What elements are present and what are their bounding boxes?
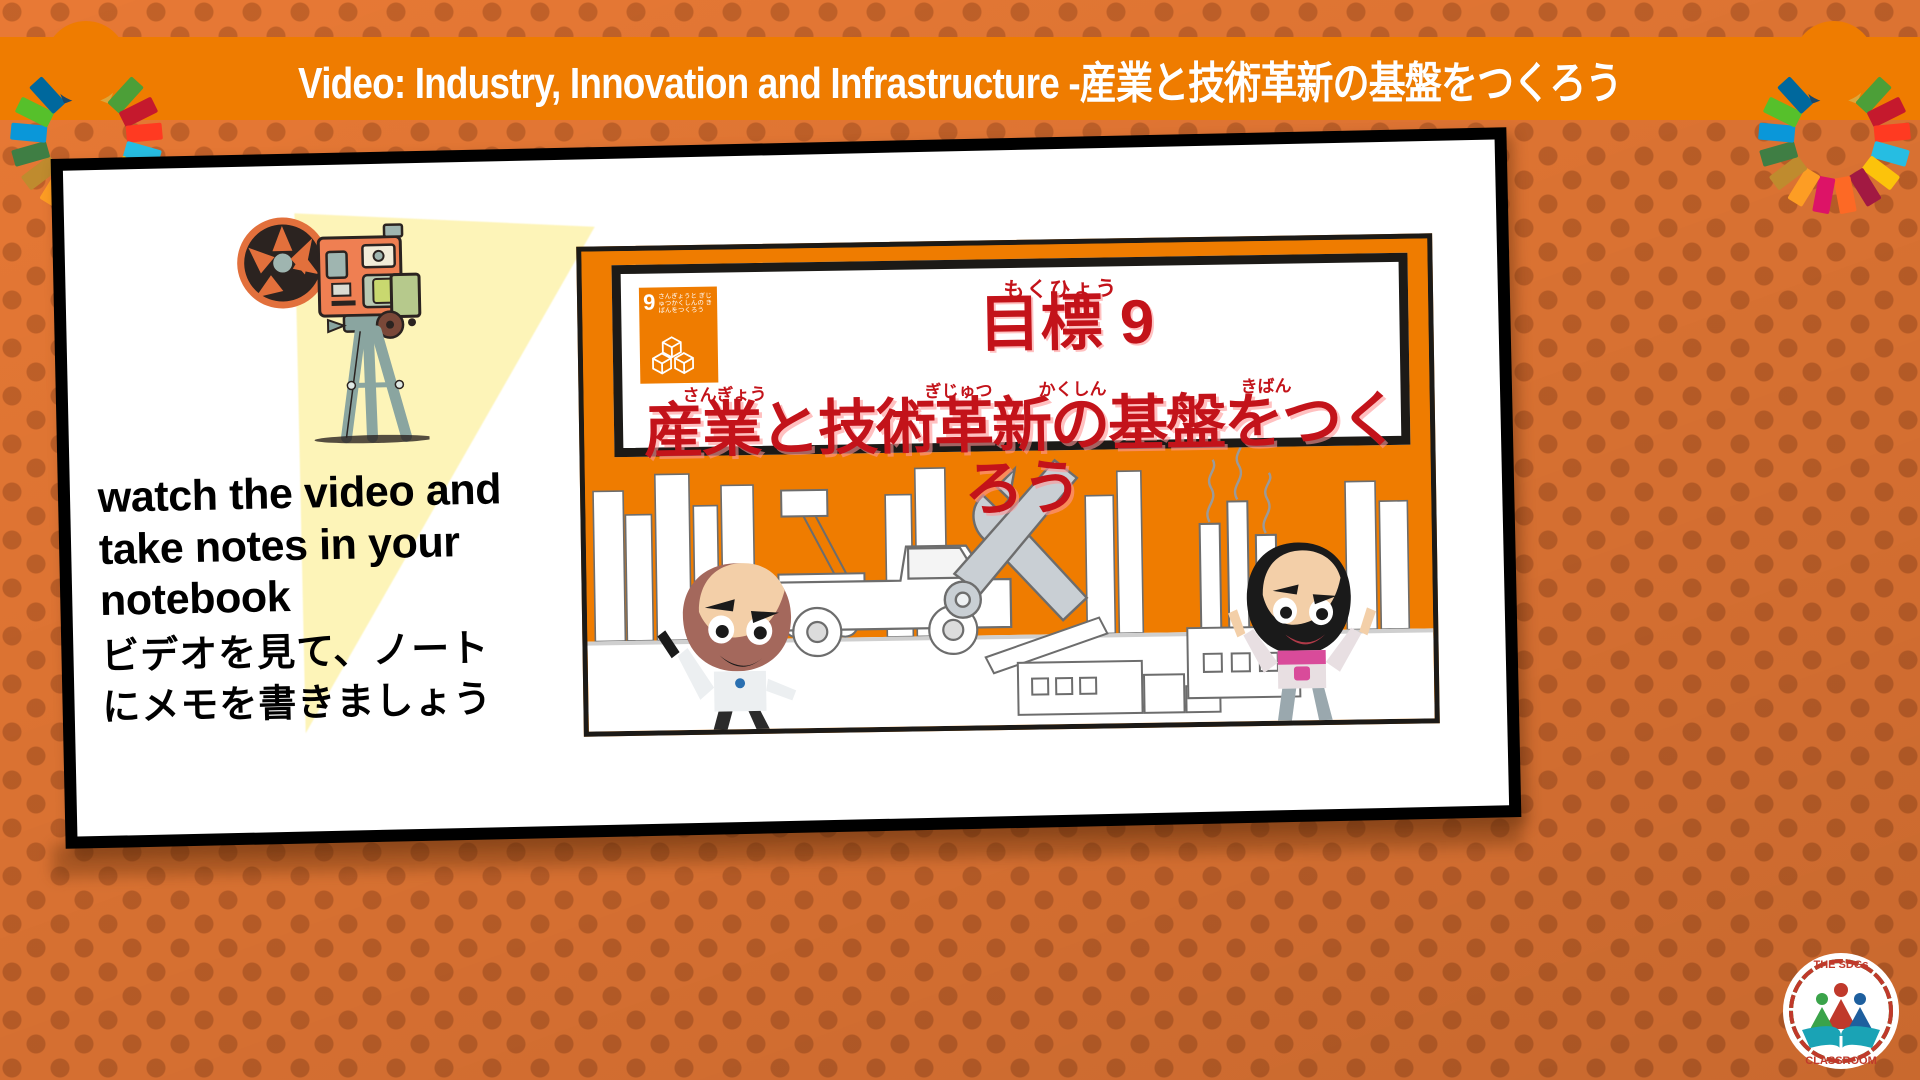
sdg9-cubes-icon — [650, 335, 707, 378]
instruction-text-block: watch the video and take notes in your n… — [97, 463, 573, 734]
sdgs-classroom-logo: THE SDGs CLASSROOM — [1782, 952, 1900, 1070]
sdg9-badge: 9 さんぎょうと ぎじゅつかくしんの きばんをつくろう — [639, 287, 718, 384]
video-thumbnail[interactable]: 9 さんぎょうと ぎじゅつかくしんの きばんをつくろう もくひょう 目標 9 さ… — [576, 233, 1440, 736]
wheel-center — [45, 21, 127, 103]
sdg-wheel-segment — [1758, 123, 1795, 143]
sdg-wheel-segment — [10, 123, 47, 143]
sdg-color-wheel-icon-right — [1758, 0, 1910, 138]
sdg-color-wheel-icon-left — [10, 0, 162, 138]
logo-top-text: THE SDGs — [1813, 959, 1868, 971]
goal-text: 目標 9 — [951, 291, 1182, 357]
logo-bottom-text: CLASSROOM — [1805, 1055, 1877, 1067]
video-title-board: 9 さんぎょうと ぎじゅつかくしんの きばんをつくろう もくひょう 目標 9 さ… — [611, 253, 1410, 457]
sdg-wheel-segment — [1873, 123, 1910, 143]
sdg9-number: 9 — [643, 292, 656, 314]
video-headline: 産業と技術革新の基盤をつくろう — [623, 388, 1421, 526]
instruction-line-ja-2: にメモを書きましょう — [102, 673, 573, 734]
film-projector-icon — [229, 198, 429, 447]
page-title: Video: Industry, Innovation and Infrastr… — [298, 47, 1622, 111]
instruction-line-en-1: watch the video and — [97, 463, 568, 525]
sdg-wheel-segment — [125, 123, 162, 143]
header-banner: Video: Industry, Innovation and Infrastr… — [0, 37, 1920, 120]
instruction-line-en-3: notebook — [99, 566, 570, 628]
wheel-center — [1793, 21, 1875, 103]
